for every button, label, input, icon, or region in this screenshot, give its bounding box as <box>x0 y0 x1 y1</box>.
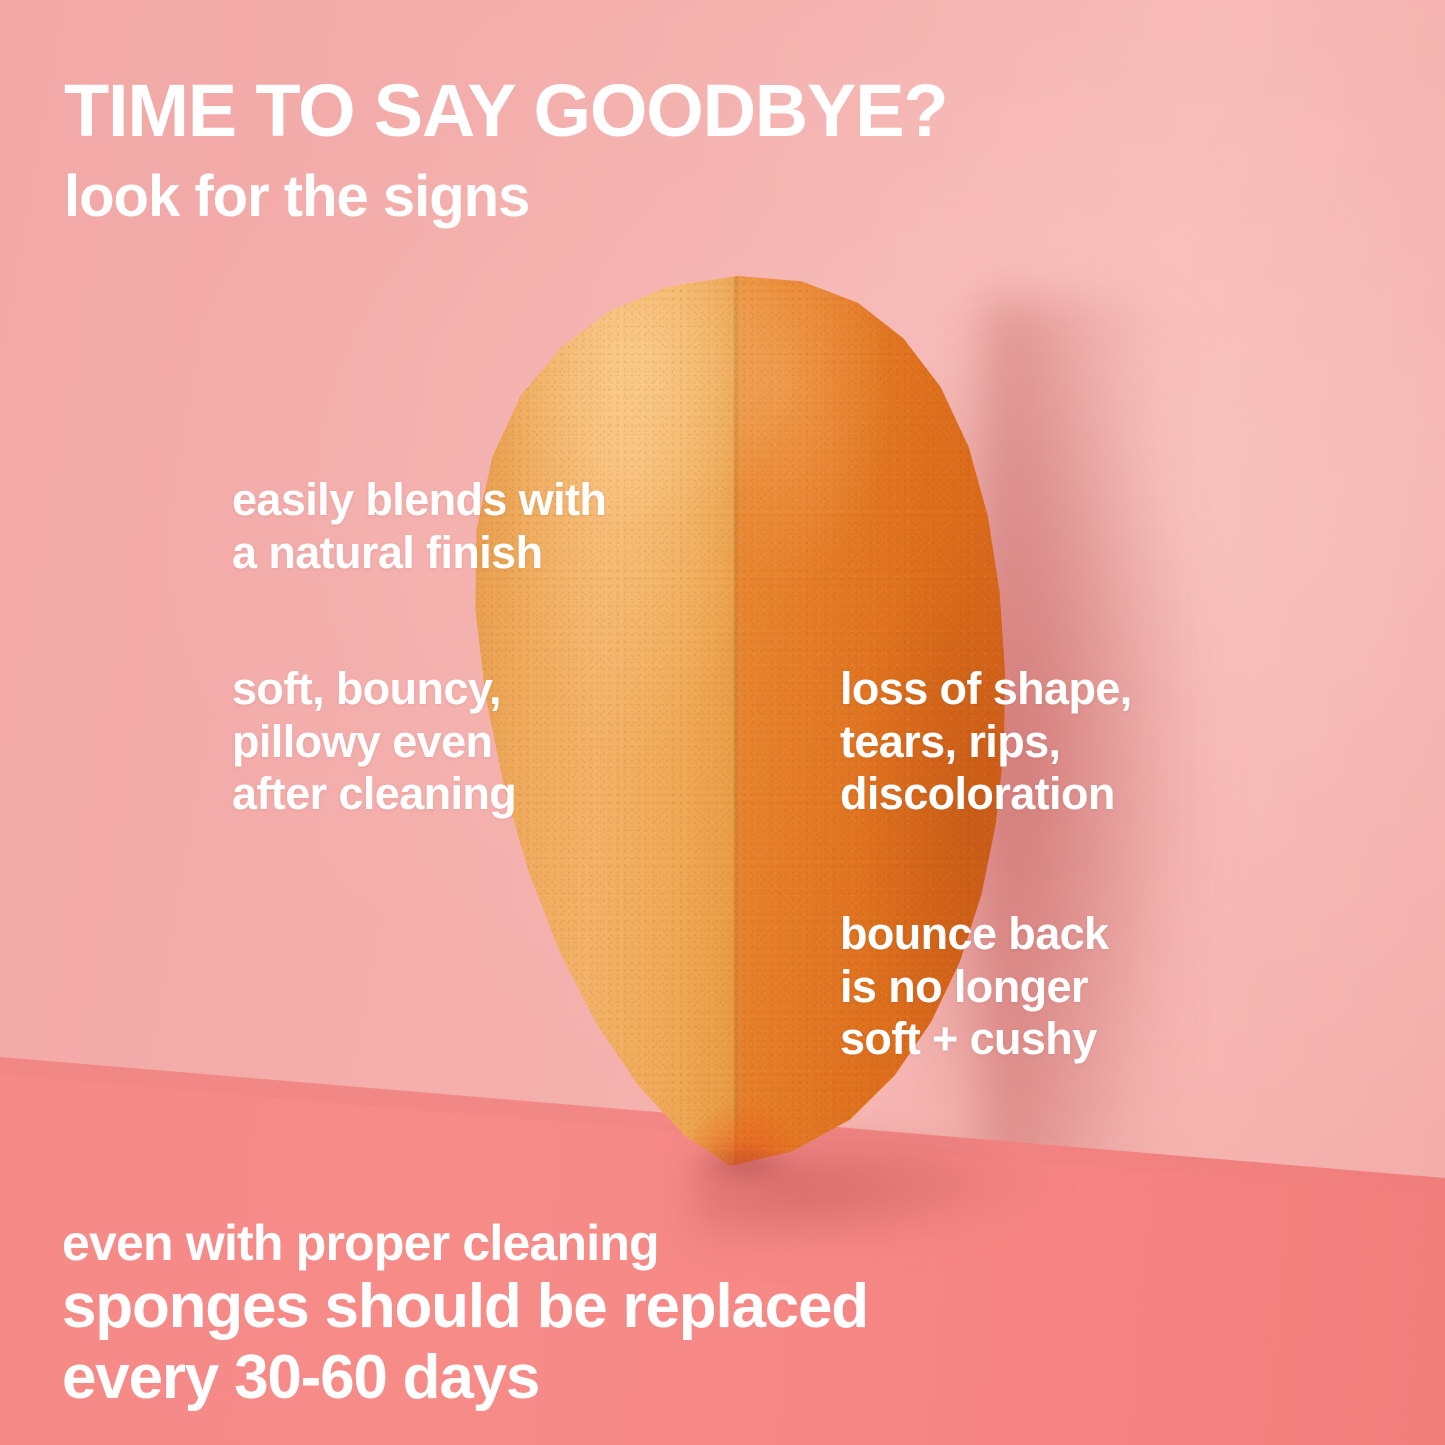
callout-line: soft + cushy <box>840 1013 1108 1066</box>
callout-bad-shape: loss of shape, tears, rips, discoloratio… <box>840 663 1132 821</box>
callout-line: loss of shape, <box>840 663 1132 716</box>
footer-emphasis-line: sponges should be replaced <box>62 1274 868 1341</box>
callout-line: pillowy even <box>232 716 516 769</box>
callout-line: soft, bouncy, <box>232 663 516 716</box>
callout-line: easily blends with <box>232 474 606 527</box>
page-subtitle: look for the signs <box>64 168 529 226</box>
callout-line: tears, rips, <box>840 716 1132 769</box>
callout-line: after cleaning <box>232 768 516 821</box>
footer-message: even with proper cleaning sponges should… <box>62 1216 868 1412</box>
callout-line: bounce back <box>840 908 1108 961</box>
callout-good-blend: easily blends with a natural finish <box>232 474 606 579</box>
callout-line: is no longer <box>840 961 1108 1014</box>
callout-bad-bounce: bounce back is no longer soft + cushy <box>840 908 1108 1066</box>
footer-emphasis-line: every 30-60 days <box>62 1345 868 1412</box>
callout-good-texture: soft, bouncy, pillowy even after cleanin… <box>232 663 516 821</box>
sponge-contact-shadow <box>700 1145 850 1189</box>
callout-line: discoloration <box>840 768 1132 821</box>
callout-line: a natural finish <box>232 527 606 580</box>
promo-graphic: TIME TO SAY GOODBYE? look for the signs … <box>0 0 1445 1445</box>
footer-lead-line: even with proper cleaning <box>62 1216 868 1270</box>
page-title: TIME TO SAY GOODBYE? <box>64 74 947 148</box>
